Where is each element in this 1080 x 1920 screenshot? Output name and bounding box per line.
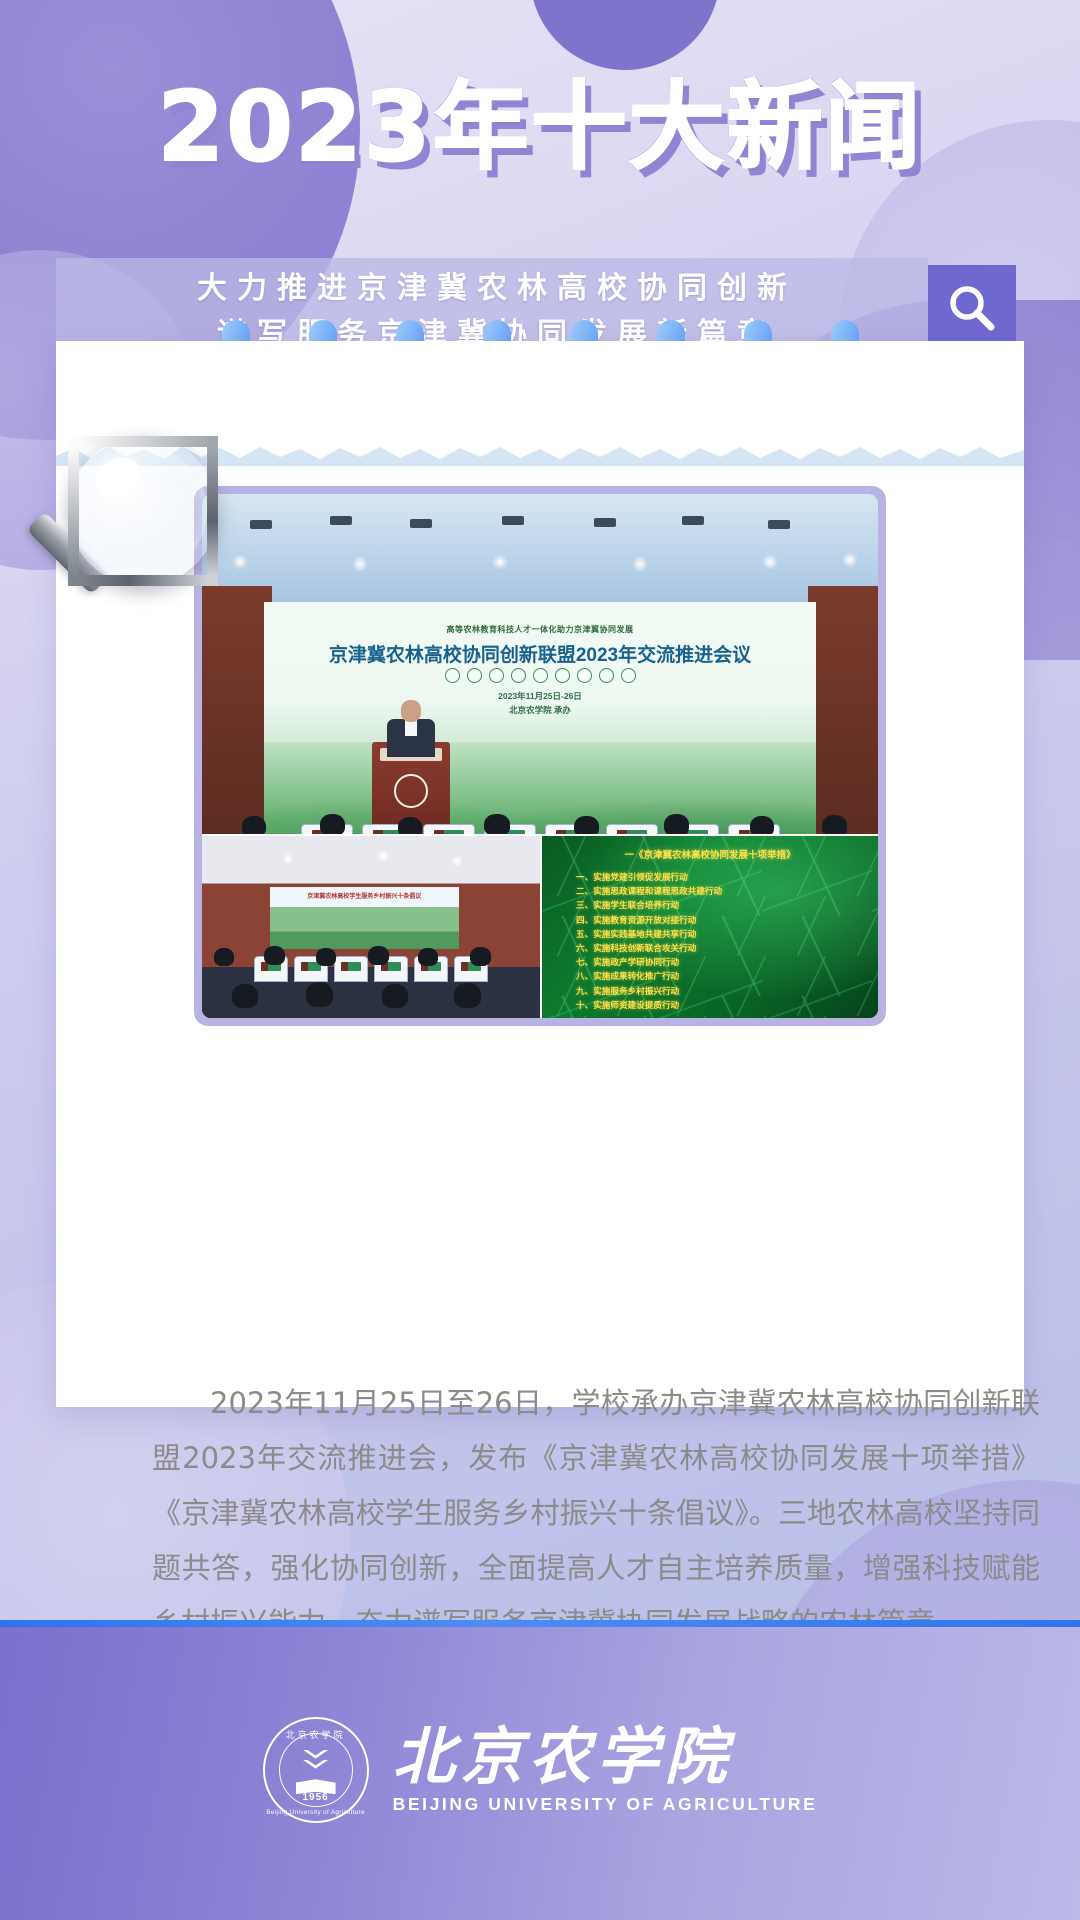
screen-logo-row [264,668,816,683]
footer: 北京农学院 1956 Beijing University of Agricul… [0,1620,1080,1920]
poster-root: 2023年十大新闻 大力推进京津冀农林高校协同创新 谱写服务京津冀协同发展新篇章 [0,0,1080,1920]
seal-year: 1956 [265,1792,367,1803]
search-icon [946,282,998,334]
stage-screen: 高等农林教育科技人才一体化助力京津冀协同发展 京津冀农林高校协同创新联盟2023… [264,602,816,838]
footer-accent-bar [0,1620,1080,1627]
photo-frame: 高等农林教育科技人才一体化助力京津冀协同发展 京津冀农林高校协同创新联盟2023… [194,486,886,1026]
seal-top-text: 北京农学院 [265,1728,367,1741]
screen-title: 京津冀农林高校协同创新联盟2023年交流推进会议 [264,640,816,667]
green-list-item: 六、实施科技创新联合攻关行动 [576,941,870,955]
conference-photo: 高等农林教育科技人才一体化助力京津冀协同发展 京津冀农林高校协同创新联盟2023… [202,494,878,1018]
page-title: 2023年十大新闻 [0,72,1080,182]
hall-ceiling [202,494,878,604]
green-panel-list: 一、实施党建引领促发展行动 二、实施思政课程和课程思政共建行动 三、实施学生联合… [576,870,870,1012]
screen-date: 2023年11月25日-26日 [264,690,816,702]
green-list-item: 七、实施政产学研协同行动 [576,955,870,969]
university-seal: 北京农学院 1956 Beijing University of Agricul… [263,1717,369,1823]
green-list-item: 十、实施师资建设提质行动 [576,998,870,1012]
hall-wall-left [202,586,272,836]
wordmark-english: BEIJING UNIVERSITY OF AGRICULTURE [393,1794,818,1815]
subtitle-line-1: 大力推进京津冀农林高校协同创新 [187,263,797,307]
inset-photo-left: 京津冀农林高校学生服务乡村振兴十条倡议 [202,834,540,1018]
wordmark-chinese: 北京农学院 [393,1726,818,1788]
hall-wall-right [808,586,878,836]
inset-green-panel: 一《京津冀农林高校协同发展十项举措》 一、实施党建引领促发展行动 二、实施思政课… [540,834,878,1018]
torn-paper-edge [56,436,1024,466]
screen-kicker: 高等农林教育科技人才一体化助力京津冀协同发展 [264,624,816,635]
background-blob-top-center [530,0,720,70]
inset-left-screen-title: 京津冀农林高校学生服务乡村振兴十条倡议 [270,891,459,900]
green-list-item: 五、实施实践基地共建共享行动 [576,927,870,941]
university-wordmark: 北京农学院 BEIJING UNIVERSITY OF AGRICULTURE [393,1726,818,1815]
speaker-figure [385,700,437,754]
green-list-item: 四、实施教育资源开放对接行动 [576,913,870,927]
inset-left-screen: 京津冀农林高校学生服务乡村振兴十条倡议 [270,887,459,949]
green-list-item: 九、实施服务乡村振兴行动 [576,984,870,998]
green-list-item: 八、实施成果转化推广行动 [576,969,870,983]
green-list-item: 二、实施思政课程和课程思政共建行动 [576,884,870,898]
green-list-item: 一、实施党建引领促发展行动 [576,870,870,884]
screen-host: 北京农学院 承办 [264,704,816,716]
green-list-item: 三、实施学生联合培养行动 [576,898,870,912]
green-panel-title: 一《京津冀农林高校协同发展十项举措》 [542,847,878,861]
body-paragraph-1: 2023年11月25日至26日，学校承办京津冀农林高校协同创新联盟2023年交流… [152,1376,1040,1651]
content-card: 高等农林教育科技人才一体化助力京津冀协同发展 京津冀农林高校协同创新联盟2023… [56,341,1024,1407]
seal-bottom-text: Beijing University of Agriculture [265,1809,367,1816]
search-button[interactable] [928,265,1016,351]
